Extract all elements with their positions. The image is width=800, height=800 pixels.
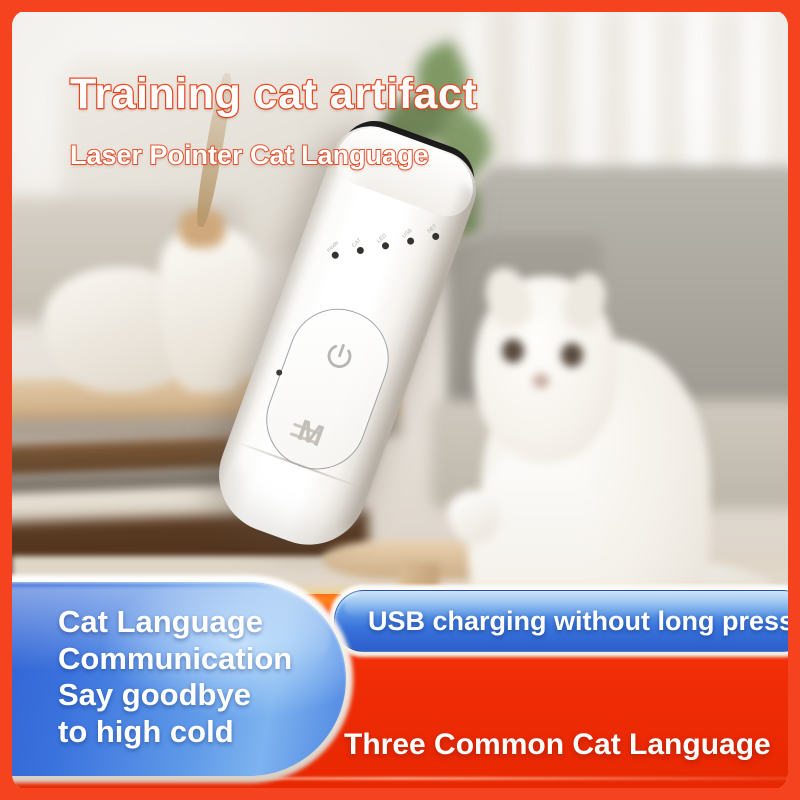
blue-pill-line-1: Cat Language: [58, 604, 322, 641]
power-icon: [317, 335, 361, 379]
product-ad-banner: mode CAT LED USB SET M Training cat arti…: [0, 0, 800, 800]
blue-pill-line-2: Communication: [58, 641, 322, 678]
indicator-dot: [406, 237, 415, 246]
page-subtitle: Laser Pointer Cat Language: [70, 140, 429, 171]
usb-callout-pill: USB charging without long press: [334, 590, 788, 652]
indicator-dot: [356, 246, 365, 255]
cat-eye-left: [502, 339, 524, 363]
indicator-dot: [431, 232, 440, 241]
blue-pill-line-3: Say goodbye: [58, 677, 322, 714]
page-title: Training cat artifact: [70, 70, 477, 119]
blue-pill-line-4: to high cold: [58, 714, 322, 751]
lifestyle-photo-scene: mode CAT LED USB SET M Training cat arti…: [12, 10, 788, 790]
red-band-caption: Three Common Cat Language: [344, 728, 771, 762]
indicator-dot: [381, 241, 390, 250]
indicator-dot: [331, 251, 340, 260]
cat-language-callout-pill: Cat Language Communication Say goodbye t…: [12, 582, 346, 776]
blue-pill-label: Cat Language Communication Say goodbye t…: [58, 604, 322, 750]
usb-pill-label: USB charging without long press: [334, 590, 788, 652]
